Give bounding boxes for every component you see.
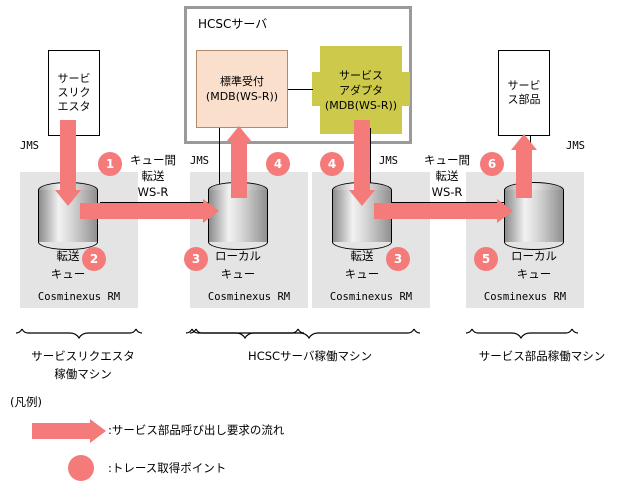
- jms-label-3: JMS: [379, 155, 398, 168]
- arrow-right-left-head: [203, 199, 219, 223]
- arrow-right-right-shaft: [374, 203, 502, 219]
- trace-point-1: 1: [98, 152, 122, 176]
- arrow-right-right-head: [497, 199, 513, 223]
- arrow-up-reception-shaft: [231, 140, 247, 198]
- service-part-box: サービ ス部品: [498, 50, 550, 136]
- jms-line-3: [370, 128, 371, 188]
- service-requester-label: サービ スリク エスタ: [58, 72, 91, 114]
- arrow-up-service-part-shaft: [516, 148, 532, 198]
- legend-dot-text: :トレース取得ポイント: [108, 462, 226, 475]
- machine-caption-service-part: サービス部品稼働マシン: [452, 347, 632, 365]
- trace-point-3b: 3: [386, 247, 410, 271]
- arrow-down-adapter-head: [349, 190, 375, 206]
- legend-arrow-shaft: [32, 423, 94, 439]
- queue-label-4: ローカル キュー: [494, 247, 574, 283]
- arrow-up-service-part-head: [511, 134, 537, 150]
- rm-label-2: Cosminexus RM: [190, 291, 308, 304]
- rm-label-3: Cosminexus RM: [312, 291, 430, 304]
- jms-label-4: JMS: [566, 140, 585, 153]
- queue-transfer-label-left: キュー間 転送 WS-R: [118, 152, 188, 200]
- legend-arrow-head: [90, 419, 106, 443]
- trace-point-2: 2: [82, 247, 106, 271]
- arrow-up-reception-head: [226, 126, 252, 142]
- trace-point-6: 6: [480, 152, 504, 176]
- standard-reception-label: 標準受付 (MDB(WS-R)): [206, 74, 278, 104]
- trace-point-4a: 4: [266, 152, 290, 176]
- service-part-label: サービ ス部品: [508, 79, 541, 107]
- queue-cylinder-local-2: [504, 182, 564, 250]
- rm-label-1: Cosminexus RM: [20, 291, 138, 304]
- standard-reception-box: 標準受付 (MDB(WS-R)): [196, 50, 288, 128]
- queue-transfer-label-right: キュー間 転送 WS-R: [412, 152, 482, 200]
- queue-label-2: ローカル キュー: [198, 247, 278, 283]
- trace-point-3a: 3: [184, 247, 208, 271]
- jms-label-2: JMS: [190, 155, 209, 168]
- queue-label-3: 転送 キュー: [328, 247, 396, 283]
- jms-label-1: JMS: [20, 140, 39, 153]
- arrow-down-requester-shaft: [60, 120, 76, 196]
- legend-arrow-text: :サービス部品呼び出し要求の流れ: [108, 424, 284, 437]
- rm-label-4: Cosminexus RM: [466, 291, 584, 304]
- arrow-right-left-shaft: [80, 203, 208, 219]
- machine-caption-requester: サービスリクエスタ 稼働マシン: [8, 347, 158, 383]
- trace-point-4b: 4: [320, 152, 344, 176]
- reception-adapter-connector: [288, 89, 313, 90]
- service-adapter-label: サービス アダプタ (MDB(WS-R)): [325, 68, 397, 113]
- arrow-down-requester-head: [55, 190, 81, 206]
- machine-caption-hcsc: HCSCサーバ稼働マシン: [220, 347, 400, 365]
- legend-dot-icon: [68, 455, 94, 481]
- legend-heading: (凡例): [10, 396, 42, 409]
- arrow-down-adapter-shaft: [354, 120, 370, 196]
- hcsc-server-label: HCSCサーバ: [198, 18, 267, 31]
- jms-line-2: [219, 128, 220, 188]
- trace-point-5: 5: [474, 247, 498, 271]
